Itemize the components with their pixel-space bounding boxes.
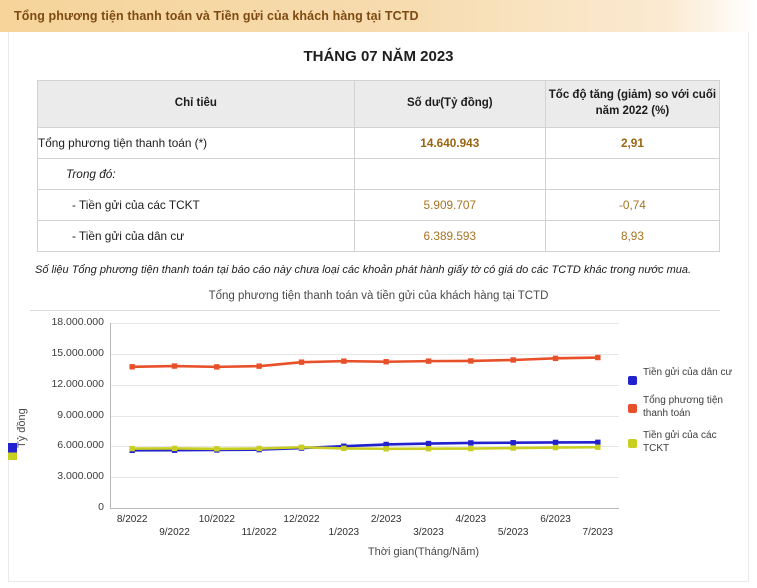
- x-axis-tick-label: 12/2022: [283, 514, 319, 525]
- chart-container: Tổng phương tiện thanh toán và tiền gửi …: [8, 288, 749, 582]
- series-marker: [553, 440, 558, 445]
- table-header-row: Chỉ tiêu Số dư(Tỷ đồng) Tốc độ tăng (giả…: [38, 81, 720, 128]
- x-axis-tick-label: 2/2023: [371, 514, 402, 525]
- series-marker: [468, 440, 473, 445]
- series-marker: [383, 446, 388, 451]
- legend-label-tong-ptt: Tổng phương tiện thanh toán: [643, 394, 743, 420]
- column-header-balance-bold: Số dư: [407, 97, 440, 109]
- monetary-data-table: Chỉ tiêu Số dư(Tỷ đồng) Tốc độ tăng (giả…: [37, 80, 720, 252]
- x-axis-tick-label: 8/2022: [117, 514, 148, 525]
- series-marker: [299, 359, 304, 364]
- series-marker: [383, 359, 388, 364]
- row-label-of-which: Trong đó:: [38, 159, 355, 190]
- x-axis-tick-label: 9/2022: [159, 527, 190, 538]
- legend-item-dan-cu[interactable]: Tiền gửi của dân cư: [628, 366, 743, 385]
- page-banner: Tổng phương tiện thanh toán và Tiền gửi …: [0, 0, 757, 32]
- series-marker: [256, 363, 261, 368]
- x-axis-tick-label: 5/2023: [498, 527, 529, 538]
- series-marker: [341, 446, 346, 451]
- column-header-balance-unit: (Tỷ đồng): [440, 97, 492, 109]
- series-marker: [510, 445, 515, 450]
- series-marker: [426, 358, 431, 363]
- table-row: - Tiền gửi của dân cư 6.389.593 8,93: [38, 221, 720, 252]
- chart-x-axis-label: Thời gian(Tháng/Năm): [8, 546, 749, 558]
- banner-title: Tổng phương tiện thanh toán và Tiền gửi …: [14, 9, 419, 23]
- row-balance-of-which: [354, 159, 545, 190]
- column-header-balance: Số dư(Tỷ đồng): [354, 81, 545, 128]
- legend-marker-tong-ptt: [628, 404, 637, 413]
- series-marker: [299, 445, 304, 450]
- series-marker: [595, 440, 600, 445]
- table-footnote: Số liệu Tổng phương tiện thanh toán tại …: [35, 263, 722, 279]
- legend-label-tckt: Tiền gửi của các TCKT: [643, 429, 743, 455]
- series-marker: [595, 355, 600, 360]
- series-line: [132, 358, 598, 367]
- x-axis-tick-label: 11/2022: [241, 527, 276, 538]
- row-label-deposits-residents: - Tiền gửi của dân cư: [38, 221, 355, 252]
- column-header-growth: Tốc độ tăng (giảm) so với cuối năm 2022 …: [545, 81, 719, 128]
- series-marker: [426, 441, 431, 446]
- series-marker: [426, 446, 431, 451]
- table-row: Trong đó:: [38, 159, 720, 190]
- x-axis-tick-label: 4/2023: [456, 514, 487, 525]
- series-marker: [214, 446, 219, 451]
- series-marker: [595, 445, 600, 450]
- series-marker: [468, 358, 473, 363]
- row-growth-of-which: [545, 159, 719, 190]
- row-growth-total-means-payment: 2,91: [545, 128, 719, 159]
- x-axis-tick-label: 10/2022: [199, 514, 235, 525]
- series-marker: [256, 446, 261, 451]
- month-title: THÁNG 07 NĂM 2023: [9, 48, 748, 65]
- legend-edge-chip: [8, 443, 17, 460]
- chart-legend: Tiền gửi của dân cư Tổng phương tiện tha…: [628, 366, 743, 464]
- series-marker: [214, 364, 219, 369]
- series-marker: [172, 363, 177, 368]
- row-balance-deposits-tckt: 5.909.707: [354, 190, 545, 221]
- x-axis-tick-label: 6/2023: [540, 514, 571, 525]
- series-marker: [129, 446, 134, 451]
- table-body: Tổng phương tiện thanh toán (*) 14.640.9…: [38, 128, 720, 252]
- series-marker: [129, 364, 134, 369]
- legend-item-tong-ptt[interactable]: Tổng phương tiện thanh toán: [628, 394, 743, 420]
- row-label-deposits-tckt: - Tiền gửi của các TCKT: [38, 190, 355, 221]
- table-head: Chỉ tiêu Số dư(Tỷ đồng) Tốc độ tăng (giả…: [38, 81, 720, 128]
- row-label-total-means-payment: Tổng phương tiện thanh toán (*): [38, 128, 355, 159]
- table-row: Tổng phương tiện thanh toán (*) 14.640.9…: [38, 128, 720, 159]
- column-header-indicator: Chỉ tiêu: [38, 81, 355, 128]
- legend-item-tckt[interactable]: Tiền gửi của các TCKT: [628, 429, 743, 455]
- x-axis-tick-label: 1/2023: [329, 527, 360, 538]
- series-marker: [553, 356, 558, 361]
- series-marker: [468, 446, 473, 451]
- row-growth-deposits-tckt: -0,74: [545, 190, 719, 221]
- legend-marker-tckt: [628, 439, 637, 448]
- series-marker: [510, 357, 515, 362]
- row-growth-deposits-residents: 8,93: [545, 221, 719, 252]
- series-marker: [553, 445, 558, 450]
- table-row: - Tiền gửi của các TCKT 5.909.707 -0,74: [38, 190, 720, 221]
- table-container: Chỉ tiêu Số dư(Tỷ đồng) Tốc độ tăng (giả…: [9, 80, 748, 252]
- row-balance-deposits-residents: 6.389.593: [354, 221, 545, 252]
- series-marker: [172, 446, 177, 451]
- series-marker: [510, 440, 515, 445]
- x-axis-tick-label: 7/2023: [583, 527, 614, 538]
- legend-marker-dan-cu: [628, 376, 637, 385]
- legend-label-dan-cu: Tiền gửi của dân cư: [643, 366, 732, 379]
- series-marker: [341, 358, 346, 363]
- x-axis-tick-label: 3/2023: [413, 527, 444, 538]
- row-balance-total-means-payment: 14.640.943: [354, 128, 545, 159]
- series-line: [132, 447, 598, 449]
